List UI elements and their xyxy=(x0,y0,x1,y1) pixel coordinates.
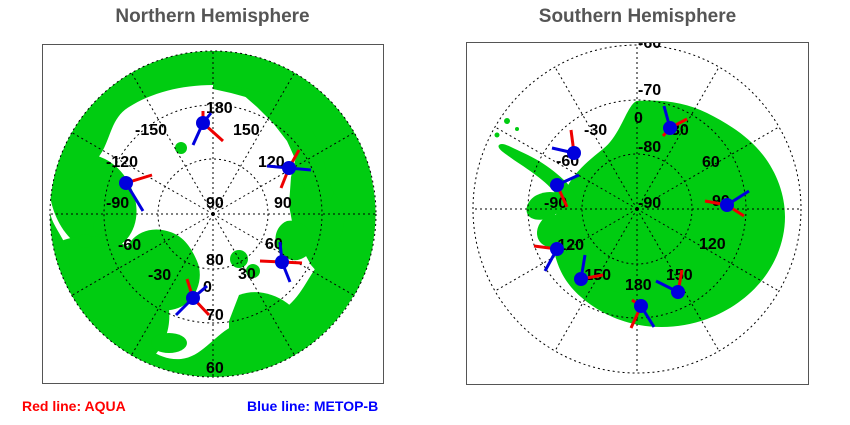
grid-label: 120 xyxy=(699,236,726,253)
island-s3 xyxy=(515,127,519,131)
grid-label: -60 xyxy=(638,43,661,52)
southern-hemisphere-panel: Southern Hemisphere xyxy=(425,0,850,425)
island-e xyxy=(93,219,109,235)
northern-polar-map: 180-150150-120120-9090-6060-303009080706… xyxy=(43,45,383,383)
grid-label: 0 xyxy=(634,110,643,127)
satellite-marker[interactable] xyxy=(282,161,296,175)
northern-hemisphere-panel: Northern Hemisphere xyxy=(0,0,425,425)
satellite-marker[interactable] xyxy=(663,121,677,135)
legend-red-line: Red line: AQUA xyxy=(22,398,126,414)
satellite-marker[interactable] xyxy=(275,255,289,269)
southern-hemisphere-plot[interactable]: -60-70-80-900-3030-6060-9090-120120-1501… xyxy=(466,42,809,385)
satellite-marker[interactable] xyxy=(567,146,581,160)
grid-label: 70 xyxy=(206,307,224,324)
grid-label: 30 xyxy=(238,266,256,283)
island-s1 xyxy=(504,118,510,124)
iceland xyxy=(151,333,187,353)
southern-hemisphere-title: Southern Hemisphere xyxy=(425,6,850,28)
grid-label: 60 xyxy=(206,360,224,377)
grid-label: -80 xyxy=(638,139,661,156)
grid-label: -90 xyxy=(106,195,129,212)
grid-label: -90 xyxy=(638,195,661,212)
grid-label: 80 xyxy=(206,252,224,269)
grid-label: -70 xyxy=(638,82,661,99)
satellite-marker[interactable] xyxy=(119,176,133,190)
southern-polar-map: -60-70-80-900-3030-6060-9090-120120-1501… xyxy=(467,43,808,384)
satellite-marker[interactable] xyxy=(671,285,685,299)
grid-label: -30 xyxy=(584,122,607,139)
grid-label: 150 xyxy=(233,122,260,139)
island-s2 xyxy=(495,133,500,138)
northern-hemisphere-title: Northern Hemisphere xyxy=(0,6,425,28)
island-f xyxy=(78,234,92,248)
satellite-marker[interactable] xyxy=(550,178,564,192)
grid-label: 60 xyxy=(702,154,720,171)
legend-blue-line: Blue line: METOP-B xyxy=(247,398,378,414)
grid-label: -120 xyxy=(106,154,138,171)
grid-label: 90 xyxy=(206,195,224,212)
satellite-marker[interactable] xyxy=(186,291,200,305)
satellite-marker[interactable] xyxy=(720,198,734,212)
grid-label: 180 xyxy=(625,277,652,294)
grid-label: -150 xyxy=(135,122,167,139)
grid-label: 90 xyxy=(274,195,292,212)
satellite-marker[interactable] xyxy=(550,242,564,256)
northern-hemisphere-plot[interactable]: 180-150150-120120-9090-6060-303009080706… xyxy=(42,44,384,384)
satellite-marker[interactable] xyxy=(196,116,210,130)
satellite-marker[interactable] xyxy=(634,299,648,313)
grid-label: -30 xyxy=(148,267,171,284)
grid-label: -60 xyxy=(118,237,141,254)
satellite-marker[interactable] xyxy=(574,272,588,286)
